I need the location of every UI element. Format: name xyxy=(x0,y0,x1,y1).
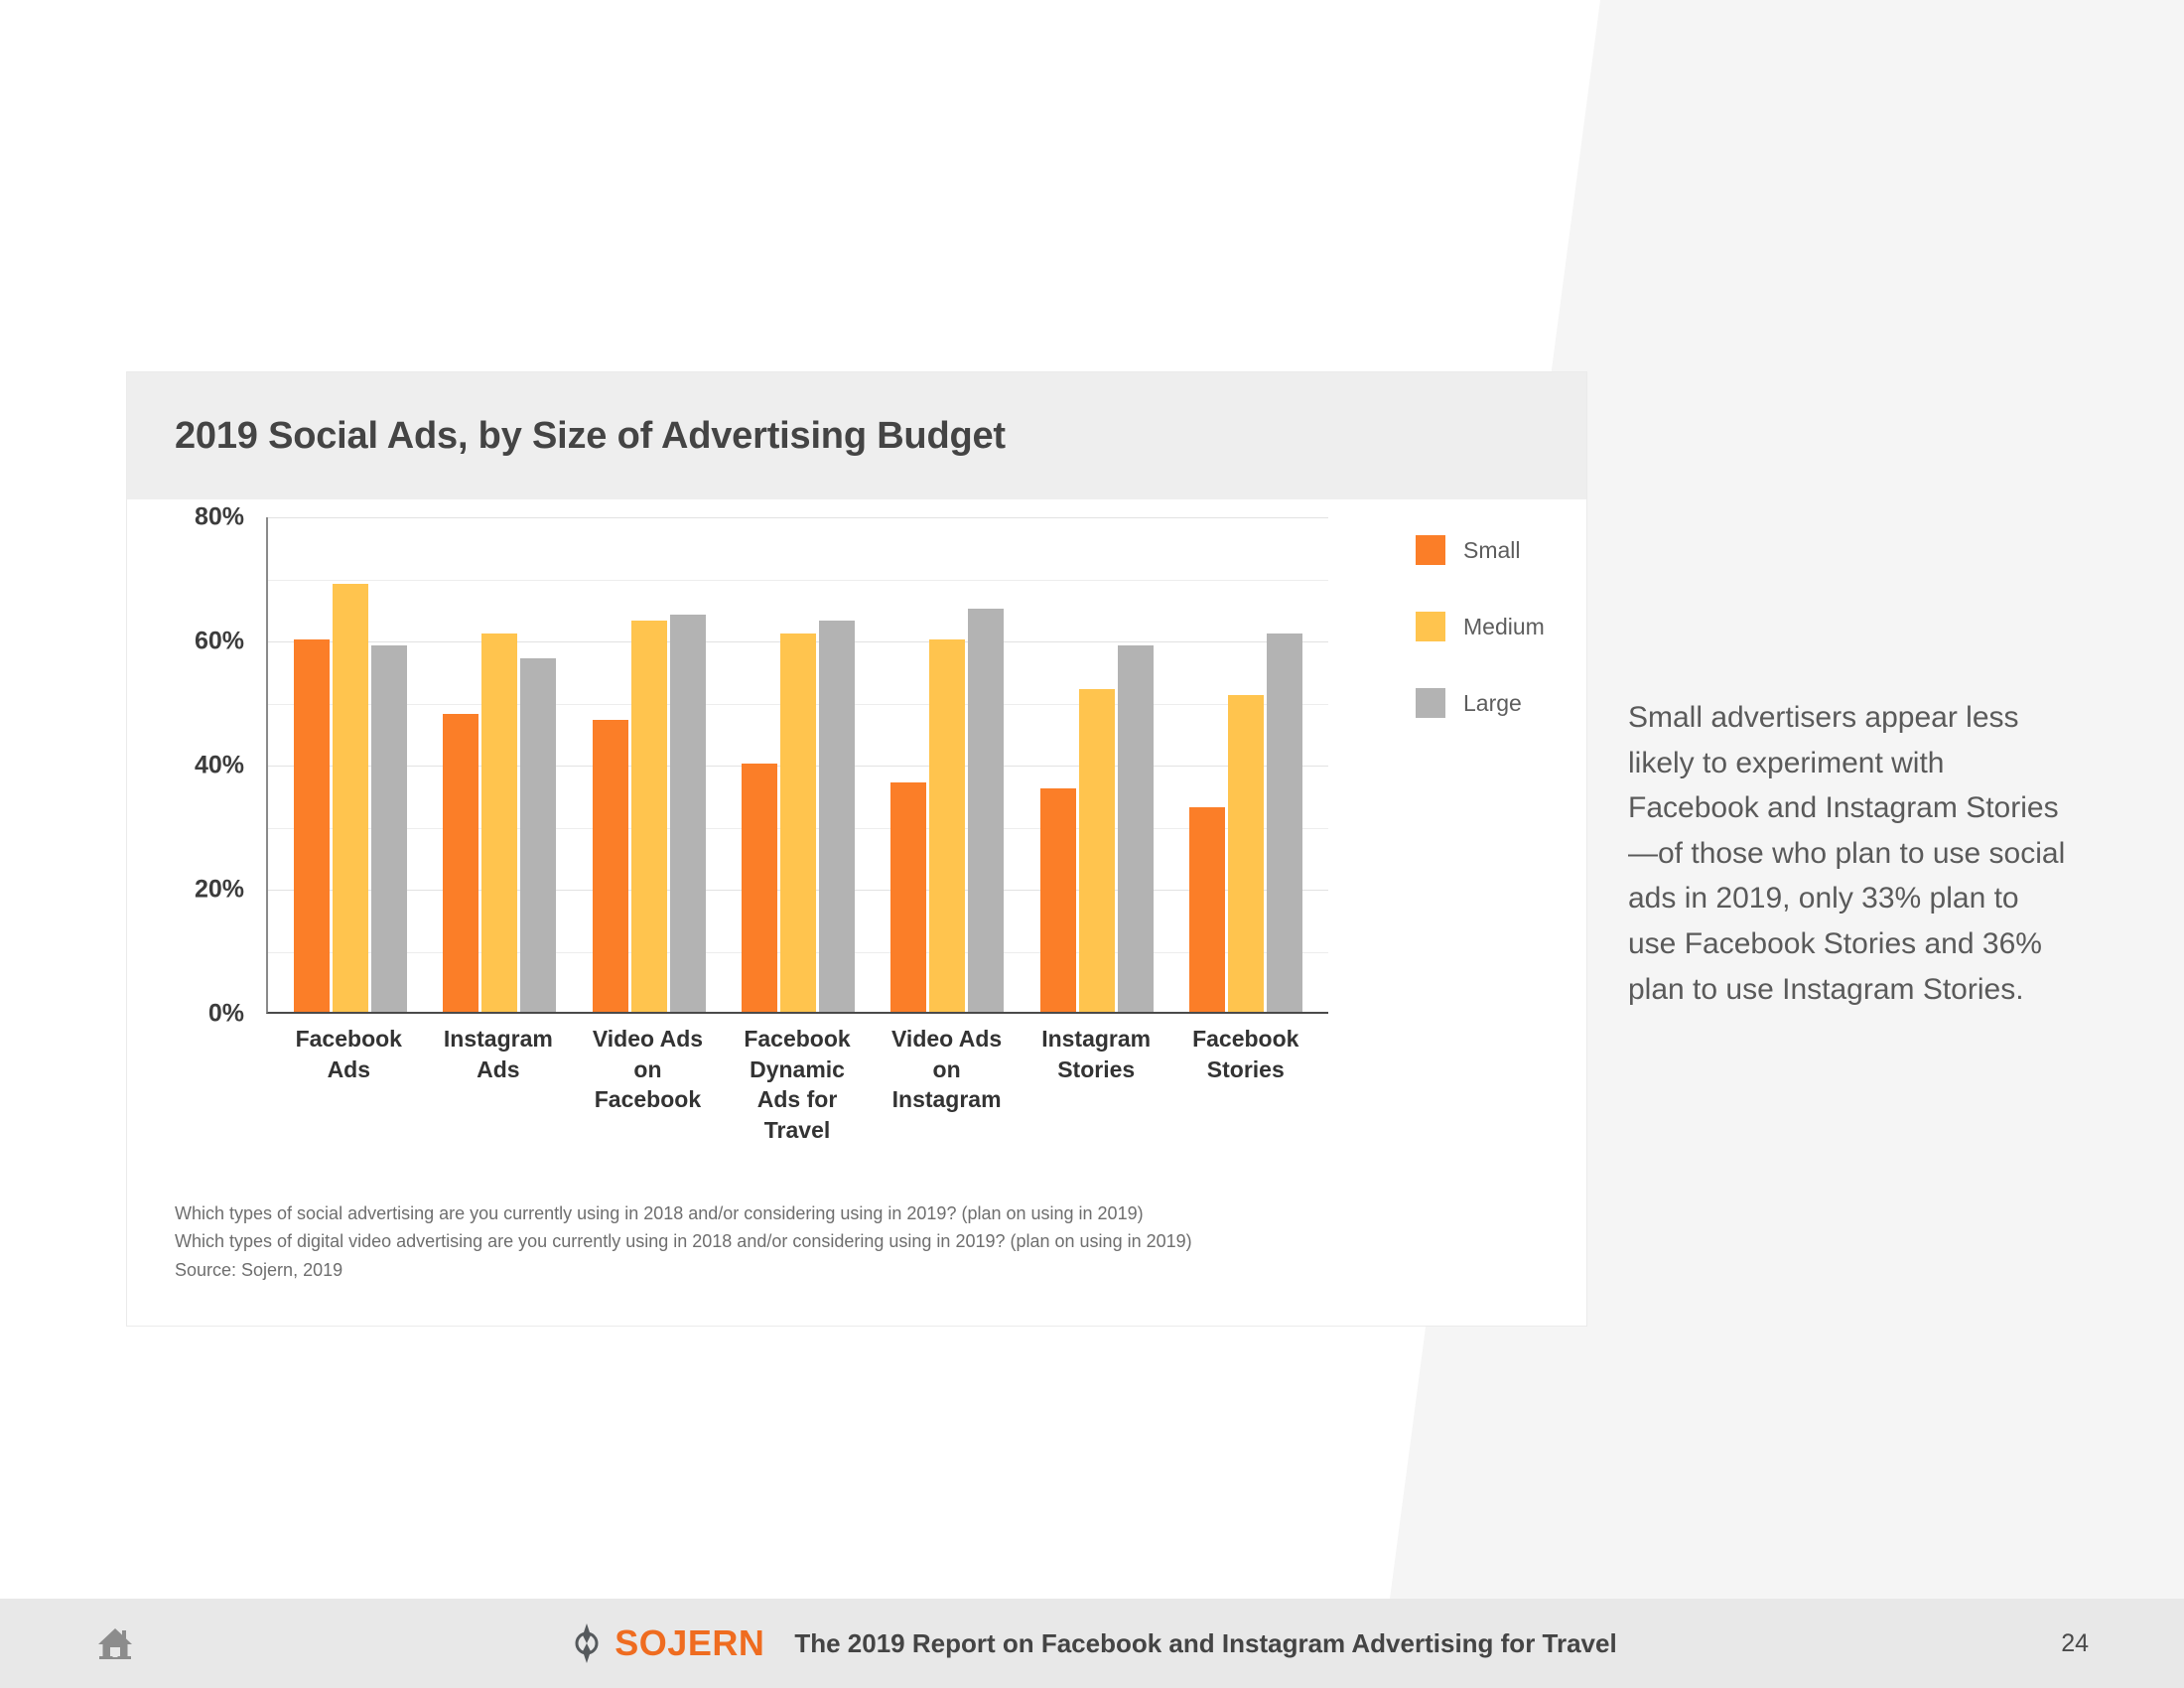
legend-swatch-icon xyxy=(1416,688,1445,718)
bar-group xyxy=(1022,517,1170,1012)
x-axis-label: FacebookDynamicAds forTravel xyxy=(723,1024,873,1145)
x-axis-label: Video AdsonFacebook xyxy=(573,1024,723,1145)
bar-medium xyxy=(333,584,368,1012)
y-axis-tick: 60% xyxy=(195,628,244,656)
bar-group xyxy=(1171,517,1320,1012)
legend-label: Medium xyxy=(1463,614,1545,640)
bar-group xyxy=(873,517,1022,1012)
y-axis-tick: 20% xyxy=(195,876,244,905)
bar-small xyxy=(1189,807,1225,1012)
footer-center: SOJERN The 2019 Report on Facebook and I… xyxy=(0,1622,2184,1664)
y-axis-tick: 80% xyxy=(195,503,244,532)
bar-small xyxy=(443,714,478,1012)
legend-label: Small xyxy=(1463,537,1521,564)
logo-wordmark: SOJERN xyxy=(614,1622,764,1664)
bar-groups xyxy=(268,517,1328,1012)
card-header: 2019 Social Ads, by Size of Advertising … xyxy=(127,372,1586,499)
bar-small xyxy=(1040,788,1076,1012)
legend-item[interactable]: Medium xyxy=(1416,612,1614,641)
bar-large xyxy=(1267,633,1302,1012)
legend-swatch-icon xyxy=(1416,612,1445,641)
x-axis-label: Video AdsonInstagram xyxy=(872,1024,1022,1145)
bar-group xyxy=(575,517,724,1012)
legend-item[interactable]: Large xyxy=(1416,688,1614,718)
slide: 2019 Social Ads, by Size of Advertising … xyxy=(0,0,2184,1688)
bar-large xyxy=(371,645,407,1012)
bar-medium xyxy=(481,633,517,1012)
footnotes: Which types of social advertising are yo… xyxy=(175,1199,1505,1284)
bar-small xyxy=(593,720,628,1012)
x-axis-labels: FacebookAdsInstagramAdsVideo AdsonFacebo… xyxy=(266,1024,1328,1145)
y-axis-tick: 40% xyxy=(195,752,244,780)
bar-large xyxy=(520,658,556,1012)
page-number: 24 xyxy=(2061,1629,2089,1658)
bar-small xyxy=(890,782,926,1012)
bar-medium xyxy=(780,633,816,1012)
card-body: 0%20%40%60%80% FacebookAdsInstagramAdsVi… xyxy=(127,499,1586,1326)
bar-medium xyxy=(1079,689,1115,1012)
page-title: 2019 Social Ads, by Size of Advertising … xyxy=(175,415,1006,458)
bar-large xyxy=(670,615,706,1012)
bar-medium xyxy=(631,621,667,1012)
footnote-line: Which types of social advertising are yo… xyxy=(175,1199,1505,1227)
footer-bar: SOJERN The 2019 Report on Facebook and I… xyxy=(0,1599,2184,1688)
chart-card: 2019 Social Ads, by Size of Advertising … xyxy=(127,372,1586,1326)
bar-group xyxy=(425,517,574,1012)
y-axis-tick: 0% xyxy=(208,1000,244,1029)
legend-label: Large xyxy=(1463,690,1522,717)
legend-item[interactable]: Small xyxy=(1416,535,1614,565)
bar-group xyxy=(276,517,425,1012)
x-axis-label: InstagramAds xyxy=(424,1024,574,1145)
bar-large xyxy=(819,621,855,1012)
side-note: Small advertisers appear less likely to … xyxy=(1628,695,2075,1012)
compass-icon xyxy=(567,1622,607,1664)
bar-small xyxy=(742,764,777,1012)
bar-medium xyxy=(1228,695,1264,1012)
bar-chart: 0%20%40%60%80% FacebookAdsInstagramAdsVi… xyxy=(175,517,1545,1153)
footnote-line: Which types of digital video advertising… xyxy=(175,1227,1505,1255)
bar-large xyxy=(968,609,1004,1012)
y-axis: 0%20%40%60%80% xyxy=(175,517,256,1014)
bar-group xyxy=(724,517,873,1012)
legend-swatch-icon xyxy=(1416,535,1445,565)
x-axis-label: FacebookAds xyxy=(274,1024,424,1145)
bar-medium xyxy=(929,639,965,1012)
footer-caption: The 2019 Report on Facebook and Instagra… xyxy=(794,1628,1616,1659)
x-axis-label: FacebookStories xyxy=(1170,1024,1320,1145)
chart-legend: SmallMediumLarge xyxy=(1416,535,1614,765)
x-axis-label: InstagramStories xyxy=(1022,1024,1171,1145)
bar-large xyxy=(1118,645,1154,1012)
footnote-line: Source: Sojern, 2019 xyxy=(175,1256,1505,1284)
sojern-logo: SOJERN xyxy=(567,1622,764,1664)
bar-small xyxy=(294,639,330,1012)
plot-area xyxy=(266,517,1328,1014)
